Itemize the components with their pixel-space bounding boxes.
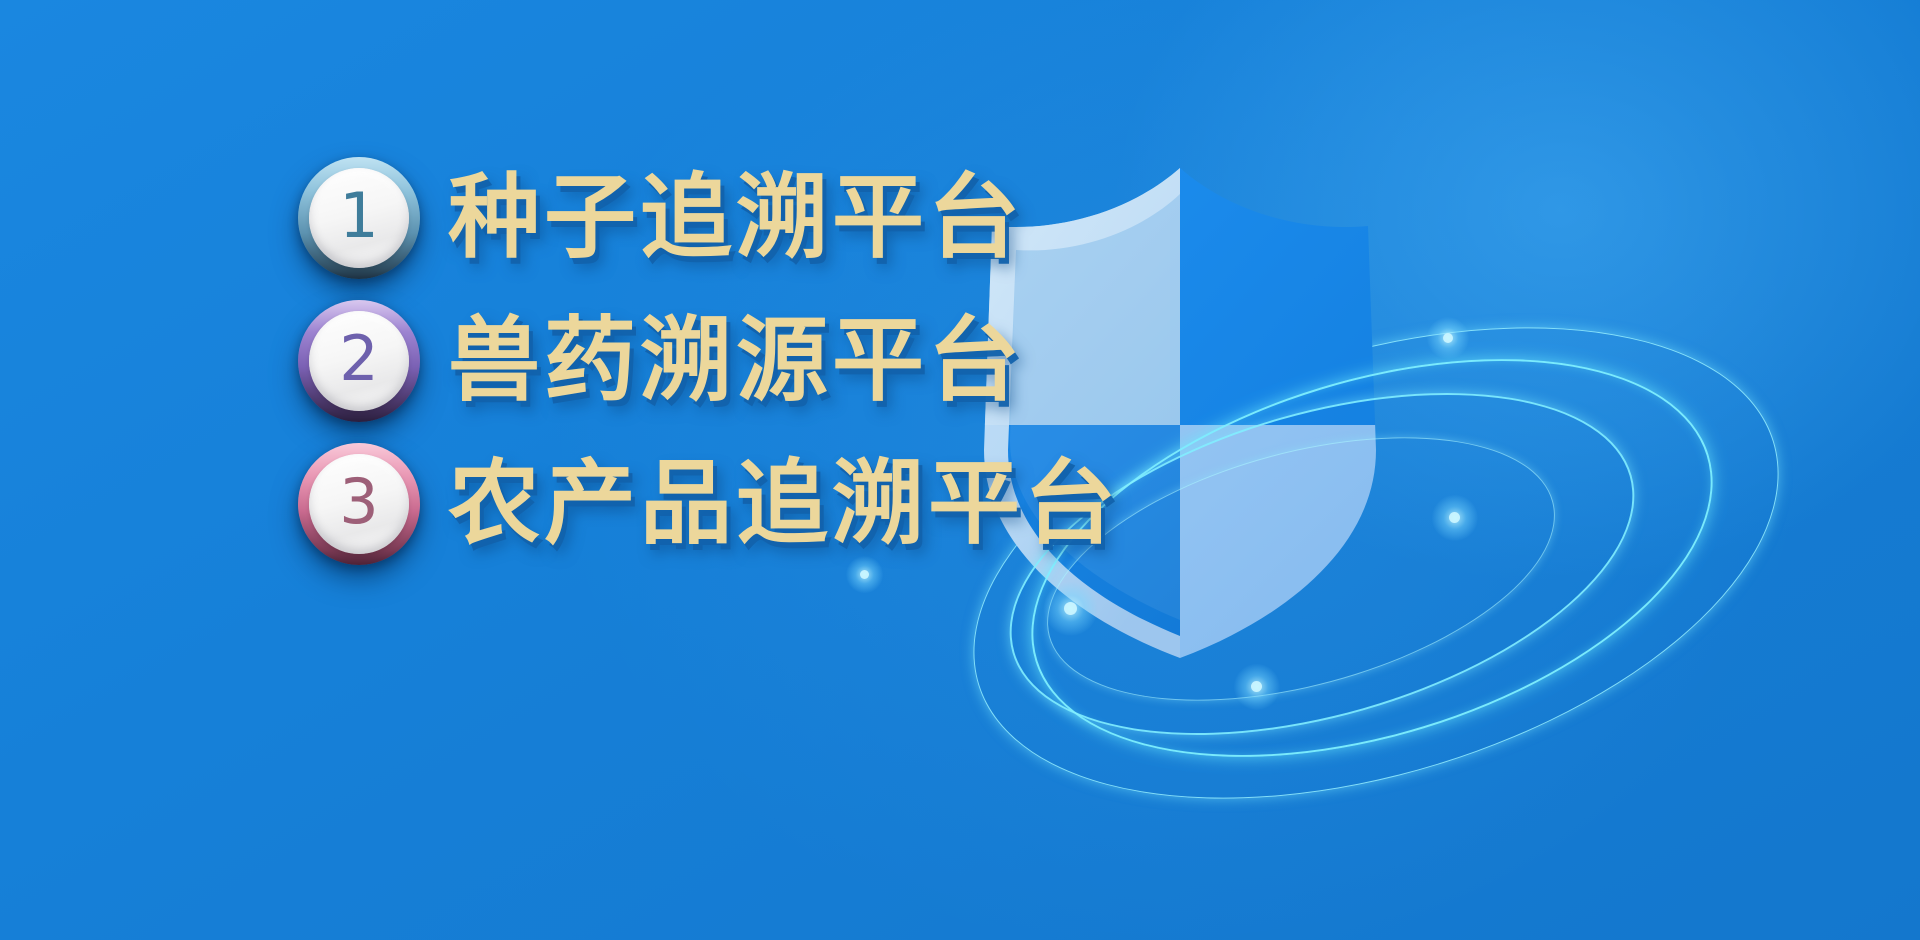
orbit-spark-2 bbox=[860, 570, 869, 579]
badge-two[interactable]: 2 bbox=[298, 300, 420, 422]
orbit-spark-4 bbox=[1449, 512, 1460, 523]
badge-two-number: 2 bbox=[339, 328, 378, 394]
badge-three-number: 3 bbox=[339, 471, 378, 537]
orbit-spark-3 bbox=[1443, 333, 1453, 343]
platform-row-2[interactable]: 2 兽药溯源平台 bbox=[298, 300, 1024, 422]
badge-one-number: 1 bbox=[339, 185, 378, 251]
platform-label-1: 种子追溯平台 bbox=[448, 172, 1024, 264]
badge-three[interactable]: 3 bbox=[298, 443, 420, 565]
badge-three-face: 3 bbox=[309, 454, 409, 554]
badge-two-face: 2 bbox=[309, 311, 409, 411]
orbit-spark-5 bbox=[1251, 681, 1262, 692]
badge-one[interactable]: 1 bbox=[298, 157, 420, 279]
platform-label-3: 农产品追溯平台 bbox=[448, 458, 1120, 550]
platform-label-2: 兽药溯源平台 bbox=[448, 315, 1024, 407]
platform-row-1[interactable]: 1 种子追溯平台 bbox=[298, 157, 1024, 279]
badge-one-face: 1 bbox=[309, 168, 409, 268]
platform-row-3[interactable]: 3 农产品追溯平台 bbox=[298, 443, 1120, 565]
banner-canvas: 1 种子追溯平台 2 兽药溯源平台 3 农产品追溯平台 bbox=[0, 0, 1920, 940]
